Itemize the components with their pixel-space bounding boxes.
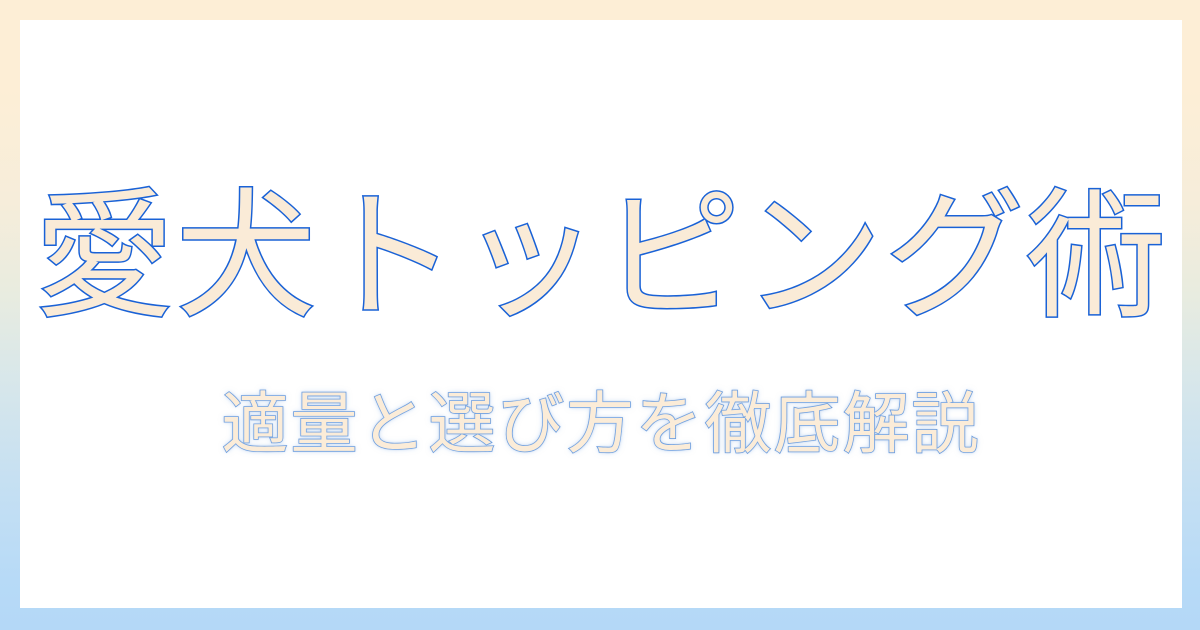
page-subtitle: 適量と選び方を徹底解説 bbox=[221, 388, 980, 462]
page-title: 愛犬トッピング術 bbox=[34, 184, 1167, 332]
subtitle-row: 適量と選び方を徹底解説 bbox=[20, 388, 1182, 462]
title-row: 愛犬トッピング術 bbox=[20, 184, 1182, 332]
thumbnail-canvas: 愛犬トッピング術 適量と選び方を徹底解説 bbox=[0, 0, 1200, 630]
hero-text-stack: 愛犬トッピング術 適量と選び方を徹底解説 bbox=[20, 20, 1182, 608]
